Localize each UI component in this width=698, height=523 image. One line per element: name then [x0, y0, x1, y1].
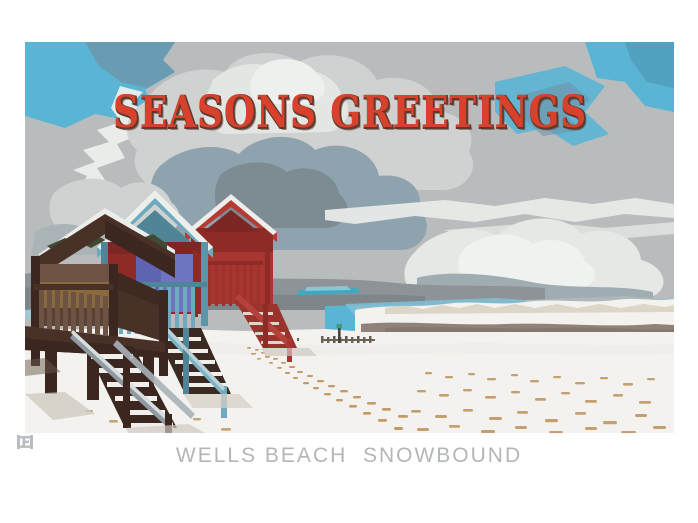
- beach-huts-layer: [25, 42, 674, 433]
- poster-caption: WELLS BEACH SNOWBOUND: [0, 444, 698, 468]
- artist-monogram-icon: artist-monogram: [16, 434, 34, 450]
- poster: SEASONS GREETINGS artist-monogram WELLS …: [0, 0, 698, 523]
- artwork-canvas: [25, 42, 674, 433]
